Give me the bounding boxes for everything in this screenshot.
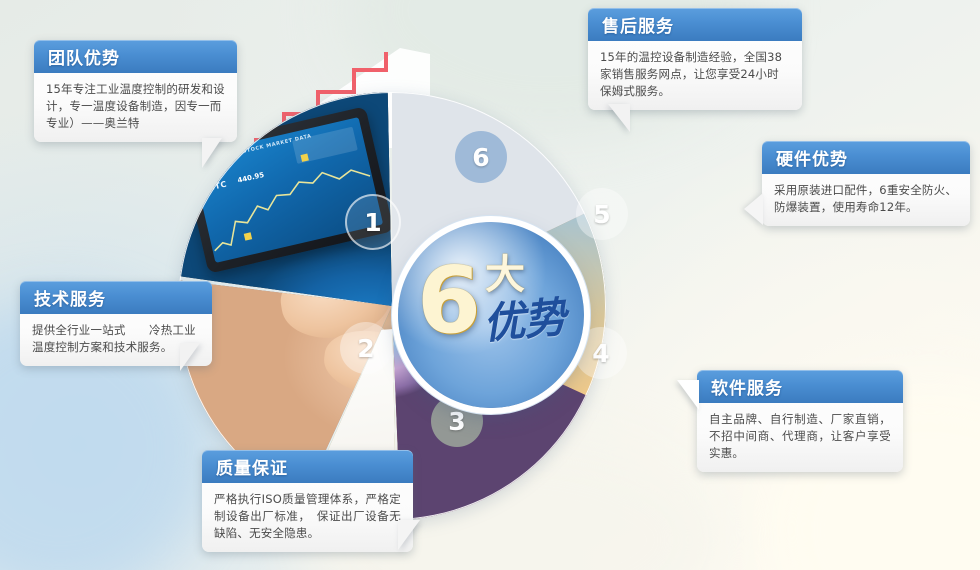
callout-tail-quality <box>398 520 420 550</box>
callout-header-aftersales: 售后服务 <box>588 8 802 41</box>
callout-card-technical[interactable]: 技术服务 提供全行业一站式 冷热工业温度控制方案和技术服务。 <box>20 281 212 366</box>
callout-header-hardware: 硬件优势 <box>762 141 970 174</box>
callout-tail-technical <box>180 343 200 371</box>
callout-title-quality: 质量保证 <box>216 454 288 479</box>
number-bubble-2[interactable]: 2 <box>340 322 392 374</box>
callout-title-aftersales: 售后服务 <box>602 12 674 37</box>
number-bubble-6[interactable]: 6 <box>455 131 507 183</box>
callout-tail-hardware <box>744 193 763 225</box>
callout-body-quality: 严格执行ISO质量管理体系，严格定制设备出厂标准， 保证出厂设备无缺陷、无安全隐… <box>202 483 413 552</box>
callout-title-hardware: 硬件优势 <box>776 145 848 170</box>
callout-tail-aftersales <box>608 104 630 132</box>
callout-header-software: 软件服务 <box>697 370 903 403</box>
callout-card-aftersales[interactable]: 售后服务 15年的温控设备制造经验，全国38家销售服务网点，让您享受24小时保姆… <box>588 8 802 110</box>
callout-title-team: 团队优势 <box>48 44 120 69</box>
callout-header-team: 团队优势 <box>34 40 237 73</box>
callout-title-software: 软件服务 <box>711 374 783 399</box>
callout-body-aftersales: 15年的温控设备制造经验，全国38家销售服务网点，让您享受24小时保姆式服务。 <box>588 41 802 110</box>
callout-body-hardware: 采用原装进口配件，6重安全防火、防爆装置，使用寿命12年。 <box>762 174 970 226</box>
callout-body-team: 15年专注工业温度控制的研发和设计，专一温度设备制造，因专一而专业）——奥兰特 <box>34 73 237 142</box>
callout-card-hardware[interactable]: 硬件优势 采用原装进口配件，6重安全防火、防爆装置，使用寿命12年。 <box>762 141 970 226</box>
badge-number: 6 <box>417 257 481 345</box>
callout-body-software: 自主品牌、自行制造、厂家直销，不招中间商、代理商，让客户享受实惠。 <box>697 403 903 472</box>
badge-unit: 大 <box>485 255 525 295</box>
callout-header-quality: 质量保证 <box>202 450 413 483</box>
callout-tail-software <box>677 380 699 410</box>
number-bubble-5[interactable]: 5 <box>576 188 628 240</box>
callout-header-technical: 技术服务 <box>20 281 212 314</box>
center-badge: 6 大 优势 <box>398 222 584 408</box>
callout-card-quality[interactable]: 质量保证 严格执行ISO质量管理体系，严格定制设备出厂标准， 保证出厂设备无缺陷… <box>202 450 413 552</box>
number-bubble-1[interactable]: 1 <box>345 194 401 250</box>
callout-card-team[interactable]: 团队优势 15年专注工业温度控制的研发和设计，专一温度设备制造，因专一而专业）—… <box>34 40 237 142</box>
callout-title-technical: 技术服务 <box>34 285 106 310</box>
badge-word: 优势 <box>481 296 567 347</box>
number-bubble-4[interactable]: 4 <box>575 327 627 379</box>
callout-card-software[interactable]: 软件服务 自主品牌、自行制造、厂家直销，不招中间商、代理商，让客户享受实惠。 <box>697 370 903 472</box>
infographic-canvas: STOCK MARKET DATA INTC 440.95 <box>0 0 980 570</box>
callout-tail-team <box>202 138 222 168</box>
